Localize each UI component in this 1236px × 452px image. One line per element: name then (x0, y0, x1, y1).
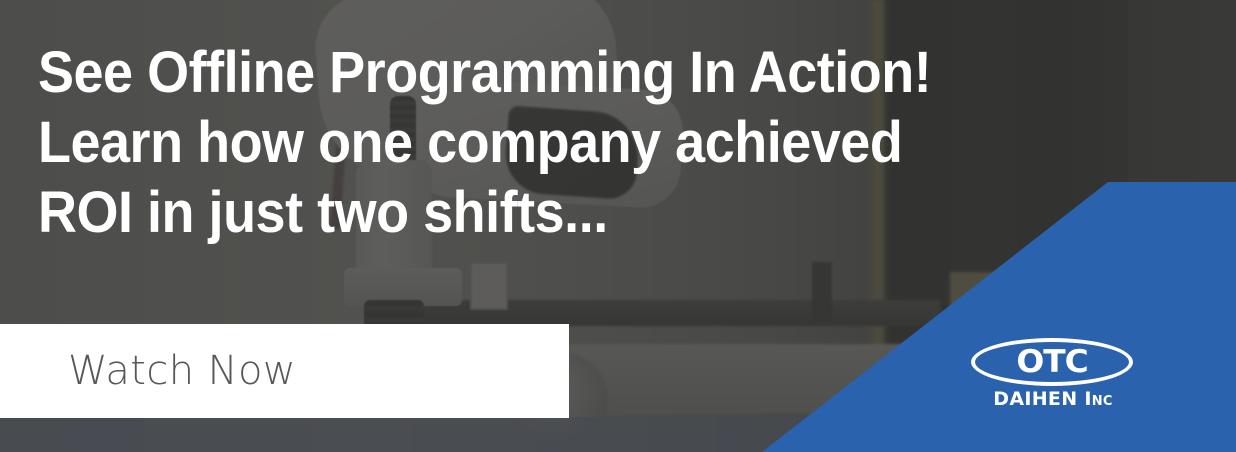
watch-now-button[interactable]: Watch Now (0, 324, 569, 418)
promo-banner: See Offline Programming In Action! Learn… (0, 0, 1236, 452)
watch-now-label: Watch Now (68, 348, 296, 394)
headline-line-2: Learn how one company achieved (38, 108, 1098, 178)
otc-daihen-logo: OTC DAIHEN INC (963, 334, 1143, 418)
logo-inc-initial: I (1084, 388, 1091, 410)
logo-inc-smallcaps: NC (1092, 394, 1113, 409)
logo-daihen-word: DAIHEN (993, 388, 1077, 410)
logo-otc-text: OTC (966, 338, 1138, 386)
logo-daihen-text: DAIHEN INC (963, 388, 1143, 410)
headline-line-3: ROI in just two shifts... (38, 178, 1098, 248)
headline-line-1: See Offline Programming In Action! (38, 38, 1098, 108)
headline: See Offline Programming In Action! Learn… (38, 38, 1098, 248)
